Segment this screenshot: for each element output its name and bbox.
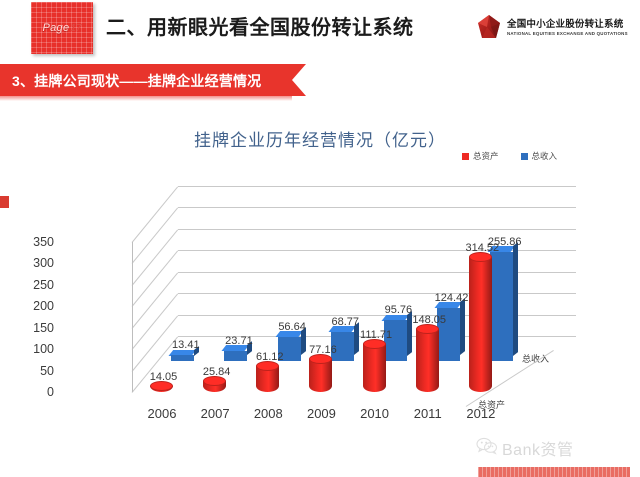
page-title: 二、用新眼光看全国股份转让系统 [106,11,414,40]
page-badge-number: 17 [70,23,81,34]
bar-total-revenue-2006 [171,355,194,361]
legend-swatch-red [462,153,469,160]
page-badge-label: Page [42,22,69,34]
data-label-total-revenue-2007: 23.71 [225,335,253,347]
legend-swatch-blue [521,153,528,160]
bar-face [171,355,194,361]
bar-side [460,298,465,355]
data-label-total-assets-2012: 314.52 [466,242,500,254]
chart-legend: 总资产 总收入 [462,150,557,162]
bar-total-assets-2012 [469,257,492,392]
data-label-total-revenue-2011: 124.42 [435,292,469,304]
legend-label-0: 总资产 [473,150,499,162]
slide-header: Page17 二、用新眼光看全国股份转让系统 全国中小企业股份转让系统 NA [0,0,640,58]
bar-total-assets-2009 [309,359,332,392]
x-tick-label-2010: 2010 [360,406,389,421]
bar-total-assets-2008 [256,366,279,392]
data-label-total-assets-2006: 14.05 [150,371,178,383]
logo-text: 全国中小企业股份转让系统 NATIONAL EQUITIES EXCHANGE … [507,20,628,36]
x-tick-label-2012: 2012 [466,406,495,421]
data-label-total-revenue-2006: 13.41 [172,339,200,351]
gridline [178,186,576,187]
bottom-decoration-strip [0,467,640,477]
wechat-icon [476,437,498,460]
y-tick-label: 200 [33,299,54,313]
bar-face [224,351,247,361]
legend-item-1: 总收入 [521,150,558,162]
y-tick-label: 150 [33,321,54,335]
section-banner-text: 3、挂牌公司现状——挂牌企业经营情况 [12,71,261,91]
data-label-total-assets-2011: 148.05 [412,314,446,326]
data-label-total-revenue-2010: 95.76 [385,304,413,316]
page-number-badge: Page17 [31,2,93,54]
y-tick-label: 350 [33,235,54,249]
legend-label-1: 总收入 [532,150,558,162]
x-tick-label-2011: 2011 [414,406,442,421]
x-tick-label-2009: 2009 [307,406,336,421]
x-tick-label-2006: 2006 [148,406,177,421]
company-logo: 全国中小企业股份转让系统 NATIONAL EQUITIES EXCHANGE … [476,12,628,44]
x-tick-label-2007: 2007 [201,406,230,421]
bar-total-assets-2007 [203,381,226,392]
y-tick-label: 250 [33,278,54,292]
bar-face [363,344,386,392]
data-label-total-revenue-2009: 68.77 [331,316,359,328]
section-banner: 3、挂牌公司现状——挂牌企业经营情况 [0,64,292,96]
y-axis: 050100150200250300350 [0,180,58,432]
bottom-strip-segment [478,467,630,477]
data-label-total-assets-2009: 77.16 [309,344,337,356]
x-axis: 2006200720082009201020112012 [60,404,580,428]
bar-total-revenue-2012 [490,252,513,362]
logo-diamond-icon [476,14,502,42]
logo-text-en: NATIONAL EQUITIES EXCHANGE AND QUOTATION… [507,32,628,36]
bar-face [469,257,492,392]
y-tick-label: 0 [47,385,54,399]
chart-title: 挂牌企业历年经营情况（亿元） [0,126,640,151]
bar-side [407,311,412,356]
bar-side [513,242,518,355]
gridline [178,229,576,230]
bar-face [490,252,513,362]
data-label-total-assets-2007: 25.84 [203,366,231,378]
bar-total-assets-2006 [150,386,173,392]
banner-shadow [0,96,292,101]
data-label-total-assets-2010: 111.71 [360,329,392,341]
gridline [178,207,576,208]
bar-total-revenue-2007 [224,351,247,361]
plot-area: 13.4114.0523.7125.8456.6461.1268.7777.16… [60,180,580,432]
bar-total-assets-2010 [363,344,386,392]
bar-face [416,329,439,392]
logo-text-cn: 全国中小企业股份转让系统 [507,20,628,30]
y-tick-label: 50 [40,364,54,378]
y-tick-label: 300 [33,256,54,270]
legend-item-0: 总资产 [462,150,499,162]
x-tick-label-2008: 2008 [254,406,283,421]
bar-total-assets-2011 [416,329,439,392]
y-tick-label: 100 [33,342,54,356]
watermark-text: Bank资管 [502,436,573,460]
watermark: Bank资管 [476,436,573,460]
data-label-total-assets-2008: 61.12 [256,351,284,363]
chart-container: 挂牌企业历年经营情况（亿元） 总资产 总收入 05010015020025030… [0,104,640,434]
data-label-total-revenue-2008: 56.64 [278,321,306,333]
axis-line-vertical [132,242,133,392]
